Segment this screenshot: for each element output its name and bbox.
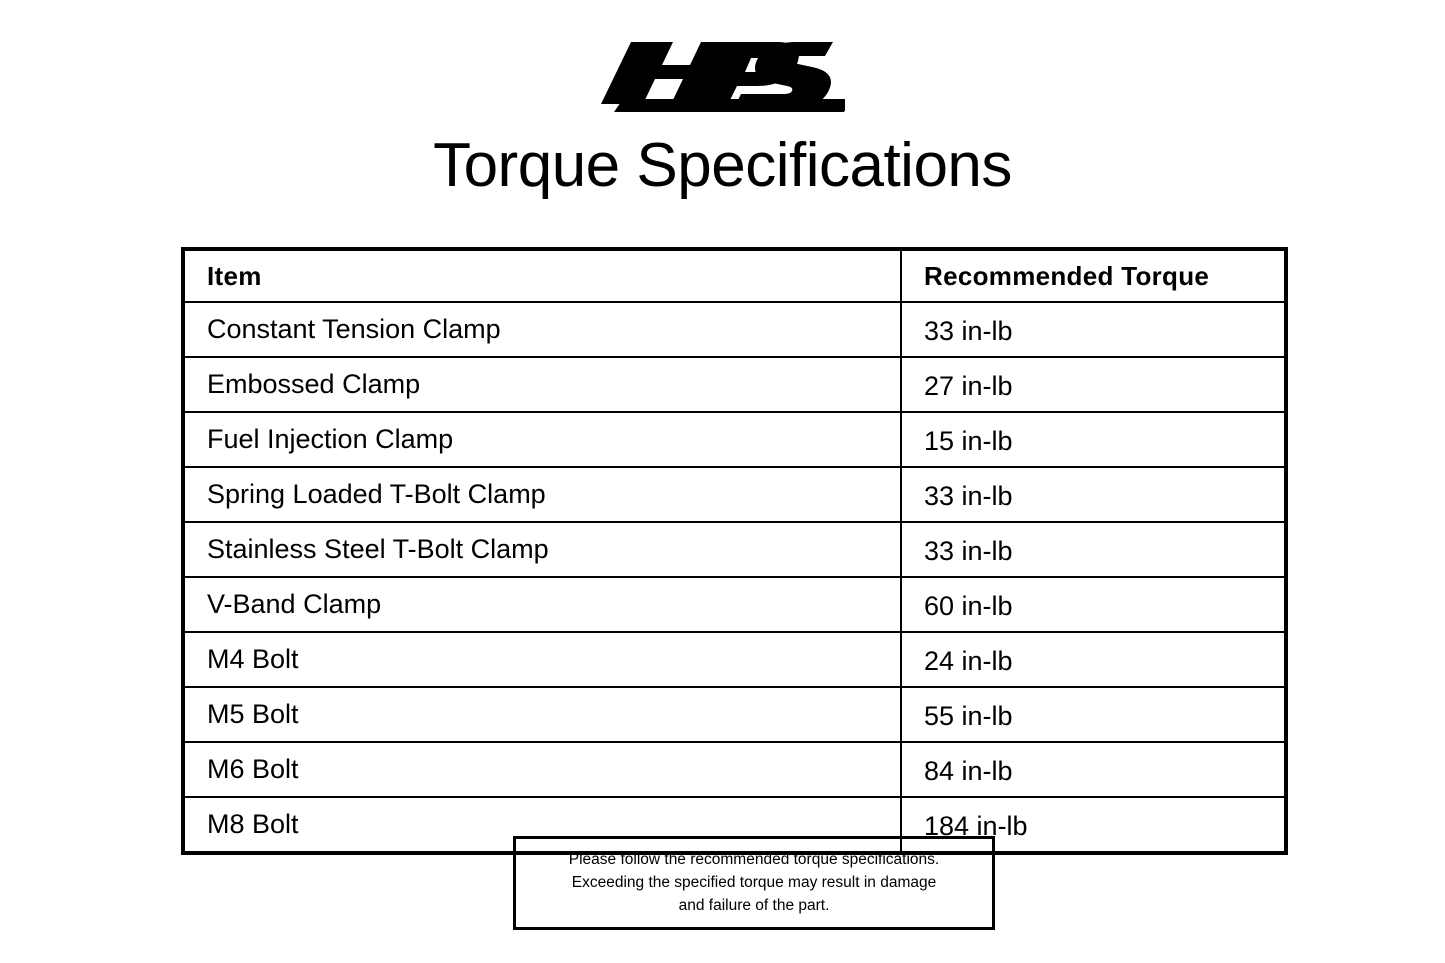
cell-torque: 15 in-lb bbox=[901, 412, 1286, 467]
cell-torque: 33 in-lb bbox=[901, 467, 1286, 522]
cell-torque: 60 in-lb bbox=[901, 577, 1286, 632]
cell-item: Embossed Clamp bbox=[183, 357, 901, 412]
column-header-torque: Recommended Torque bbox=[901, 249, 1286, 302]
cell-torque: 27 in-lb bbox=[901, 357, 1286, 412]
table-row: Spring Loaded T-Bolt Clamp 33 in-lb bbox=[183, 467, 1286, 522]
footnote-box: Please follow the recommended torque spe… bbox=[513, 836, 995, 930]
table-body: Constant Tension Clamp 33 in-lb Embossed… bbox=[183, 302, 1286, 853]
hps-logo bbox=[601, 28, 845, 114]
column-header-item: Item bbox=[183, 249, 901, 302]
table-header-row: Item Recommended Torque bbox=[183, 249, 1286, 302]
page-title: Torque Specifications bbox=[0, 129, 1445, 203]
cell-item: Constant Tension Clamp bbox=[183, 302, 901, 357]
cell-item: M5 Bolt bbox=[183, 687, 901, 742]
cell-torque: 84 in-lb bbox=[901, 742, 1286, 797]
cell-torque: 33 in-lb bbox=[901, 522, 1286, 577]
cell-item: Spring Loaded T-Bolt Clamp bbox=[183, 467, 901, 522]
footnote-line: Please follow the recommended torque spe… bbox=[526, 848, 982, 871]
footnote-line: and failure of the part. bbox=[526, 894, 982, 917]
table-row: Constant Tension Clamp 33 in-lb bbox=[183, 302, 1286, 357]
cell-torque: 24 in-lb bbox=[901, 632, 1286, 687]
table-header: Item Recommended Torque bbox=[183, 249, 1286, 302]
table-row: Stainless Steel T-Bolt Clamp 33 in-lb bbox=[183, 522, 1286, 577]
table-row: V-Band Clamp 60 in-lb bbox=[183, 577, 1286, 632]
cell-torque: 55 in-lb bbox=[901, 687, 1286, 742]
cell-torque: 33 in-lb bbox=[901, 302, 1286, 357]
torque-spec-table: Item Recommended Torque Constant Tension… bbox=[181, 247, 1288, 855]
cell-item: M4 Bolt bbox=[183, 632, 901, 687]
brand-logo-container bbox=[0, 28, 1445, 114]
cell-item: V-Band Clamp bbox=[183, 577, 901, 632]
table-row: Embossed Clamp 27 in-lb bbox=[183, 357, 1286, 412]
cell-item: M6 Bolt bbox=[183, 742, 901, 797]
cell-item: Stainless Steel T-Bolt Clamp bbox=[183, 522, 901, 577]
table-row: Fuel Injection Clamp 15 in-lb bbox=[183, 412, 1286, 467]
cell-item: Fuel Injection Clamp bbox=[183, 412, 901, 467]
table-row: M5 Bolt 55 in-lb bbox=[183, 687, 1286, 742]
table-row: M6 Bolt 84 in-lb bbox=[183, 742, 1286, 797]
footnote-line: Exceeding the specified torque may resul… bbox=[526, 871, 982, 894]
table-row: M4 Bolt 24 in-lb bbox=[183, 632, 1286, 687]
